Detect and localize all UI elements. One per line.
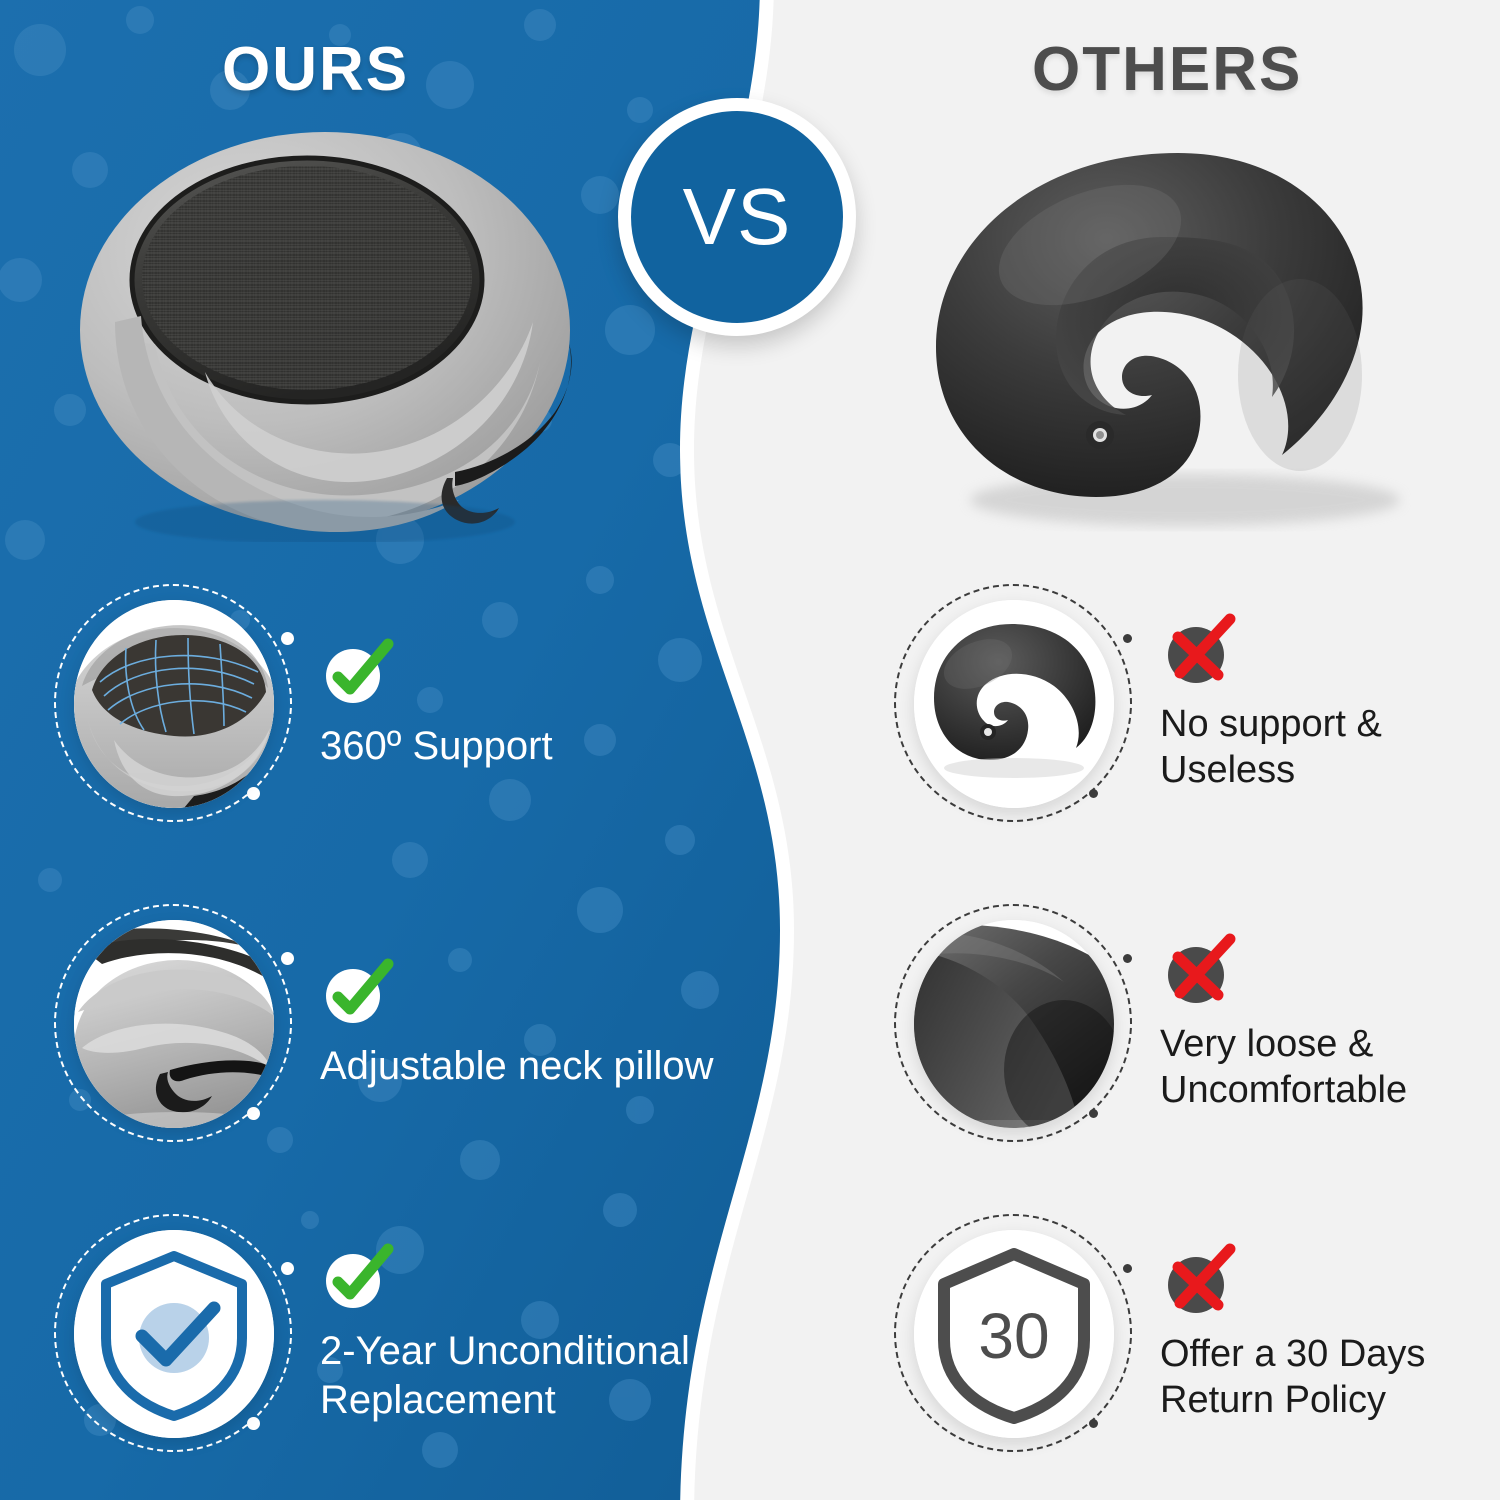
badge-number: 30 [978,1300,1049,1372]
feature-text-ours-1: 360º Support [320,636,553,771]
ring-dot-bottom [1089,1109,1098,1118]
thumbnail-image-grid-interior [74,600,274,808]
feature-row-ours-1: 360º Support [48,578,748,828]
feature-text-ours-2: Adjustable neck pillow [320,956,714,1091]
ring-dot-top [281,952,294,965]
ring-dot-top [281,632,294,645]
ring-dot-top [1123,954,1132,963]
ring-dot-bottom [1089,1419,1098,1428]
hero-image-others [900,125,1460,535]
ring-dot-bottom [247,1107,260,1120]
thumbnail-ours-3 [48,1208,298,1458]
versus-label: VS [683,171,792,263]
feature-text-others-2: Very loose & Uncomfortable [1160,933,1407,1114]
page-title-ours: OURS [222,34,409,105]
thumbnail-image-adjustable-strap [74,920,274,1128]
comparison-infographic: OURS OTHERS VS [0,0,1500,1500]
check-icon [320,956,714,1028]
feature-row-others-3: 30 Offer a 30 Days Return Policy [888,1208,1488,1458]
feature-row-ours-2: Adjustable neck pillow [48,898,748,1148]
thumbnail-others-1 [888,578,1138,828]
cross-icon [1160,933,1407,1007]
thumbnail-others-3: 30 [888,1208,1138,1458]
feature-text-others-3: Offer a 30 Days Return Policy [1160,1243,1425,1424]
page-title-others: OTHERS [1032,34,1302,105]
feature-label: Very loose & Uncomfortable [1160,1021,1407,1114]
thumbnail-ours-2 [48,898,298,1148]
feature-label: Offer a 30 Days Return Policy [1160,1331,1425,1424]
ring-dot-top [281,1262,294,1275]
feature-row-ours-3: 2-Year Unconditional Replacement [48,1208,748,1458]
shield-check-icon [74,1230,274,1438]
thumbnail-others-2 [888,898,1138,1148]
shield-30-icon: 30 [914,1230,1114,1438]
ring-dot-top [1123,1264,1132,1273]
hero-image-ours [55,112,615,542]
feature-text-ours-3: 2-Year Unconditional Replacement [320,1241,690,1425]
ring-dot-bottom [247,1417,260,1430]
thumbnail-ours-1 [48,578,298,828]
ring-dot-bottom [247,787,260,800]
ring-dot-top [1123,634,1132,643]
feature-row-others-2: Very loose & Uncomfortable [888,898,1488,1148]
feature-text-others-1: No support & Useless [1160,613,1382,794]
feature-label: Adjustable neck pillow [320,1042,714,1091]
check-icon [320,636,553,708]
cross-icon [1160,613,1382,687]
thumbnail-image-black-pillow [914,600,1114,808]
feature-label: 2-Year Unconditional Replacement [320,1327,690,1425]
check-icon [320,1241,690,1313]
feature-label: No support & Useless [1160,701,1382,794]
versus-badge: VS [618,98,856,336]
feature-row-others-1: No support & Useless [888,578,1488,828]
cross-icon [1160,1243,1425,1317]
ring-dot-bottom [1089,789,1098,798]
thumbnail-image-black-pillow-closeup [914,920,1114,1128]
feature-label: 360º Support [320,722,553,771]
